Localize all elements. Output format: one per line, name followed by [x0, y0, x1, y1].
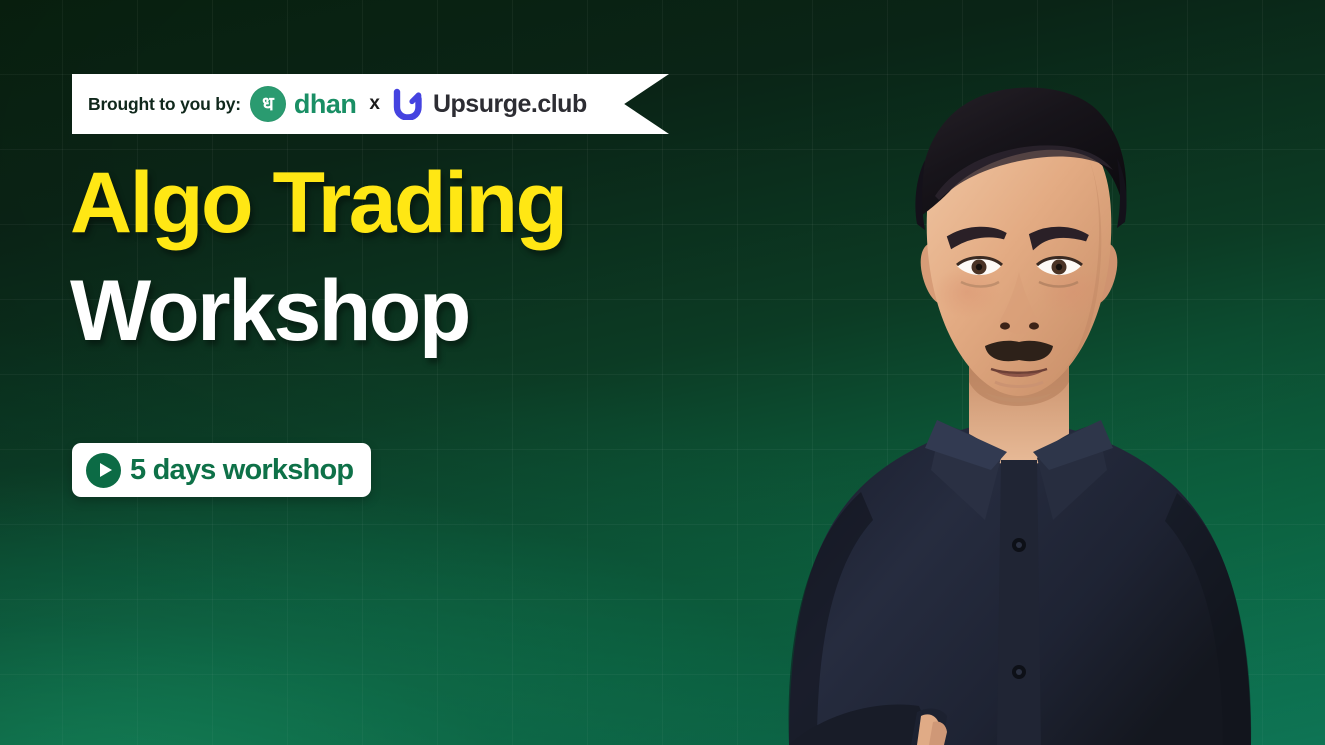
page-title-line-2: Workshop — [70, 268, 566, 354]
presenter-photo — [665, 0, 1325, 745]
dhan-logo-icon: ध — [250, 86, 286, 122]
upsurge-brand-label: Upsurge.club — [433, 90, 587, 119]
sponsor-ribbon: Brought to you by: ध dhan x Upsurge.club — [72, 74, 669, 134]
play-circle-icon — [86, 453, 121, 488]
promo-banner: Brought to you by: ध dhan x Upsurge.club… — [0, 0, 1325, 745]
headline-group: Algo Trading Workshop — [70, 160, 566, 354]
upsurge-logo-icon — [393, 88, 425, 120]
dhan-brand-label: dhan — [294, 89, 357, 120]
duration-badge-label: 5 days workshop — [130, 454, 353, 487]
page-title-line-1: Algo Trading — [70, 160, 566, 246]
sponsor-prefix-label: Brought to you by: — [88, 94, 241, 115]
duration-badge[interactable]: 5 days workshop — [72, 443, 371, 497]
dhan-brand[interactable]: ध dhan — [250, 86, 357, 122]
brand-separator: x — [369, 93, 380, 115]
upsurge-brand[interactable]: Upsurge.club — [393, 88, 587, 120]
